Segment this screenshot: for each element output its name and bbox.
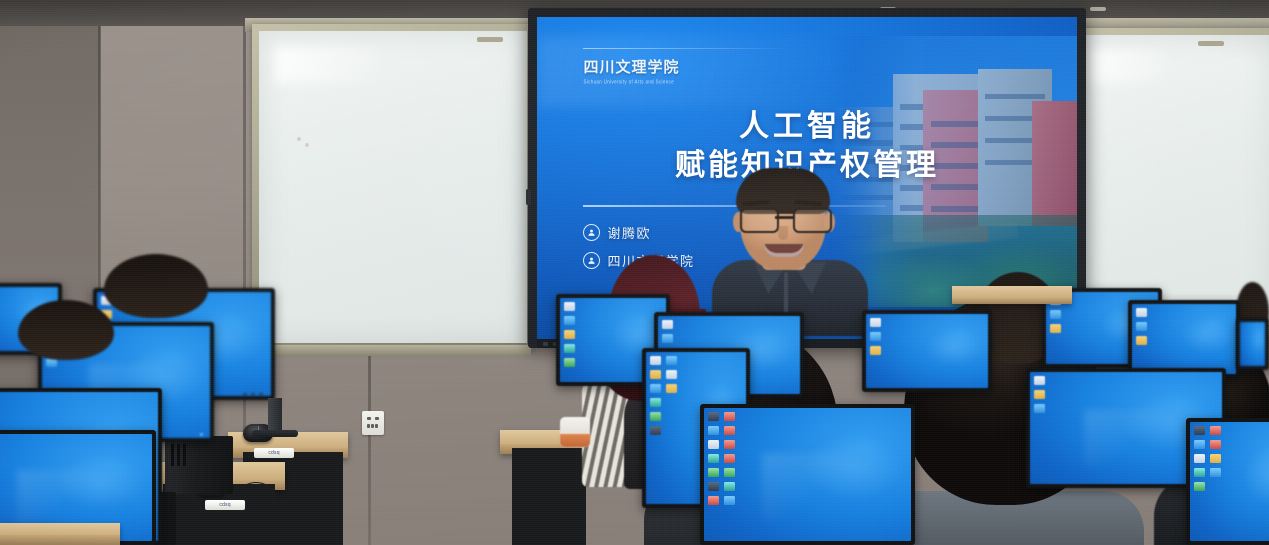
desktop-icon-app[interactable] xyxy=(708,482,719,491)
desktop-icon-app[interactable] xyxy=(724,440,735,449)
desktop-icon-column[interactable] xyxy=(662,320,673,343)
desktop-icon-column[interactable] xyxy=(870,318,881,355)
desktop-icon-app[interactable] xyxy=(708,412,719,421)
whiteboard-glare xyxy=(1089,50,1169,85)
classroom-photo-scene: 四川文理学院 Sichuan University of Arts and Sc… xyxy=(0,0,1269,545)
desktop-icon-app[interactable] xyxy=(662,334,673,343)
desktop-icon-column[interactable] xyxy=(708,412,719,505)
presenter-nose xyxy=(778,226,788,240)
desktop-icon-app[interactable] xyxy=(1210,440,1221,449)
whiteboard-glare xyxy=(275,47,382,84)
desktop-icon-folder[interactable] xyxy=(1050,324,1061,333)
desktop-icon-folder[interactable] xyxy=(1034,390,1045,399)
desktop-icon-column[interactable] xyxy=(650,356,661,435)
desktop-tower xyxy=(165,436,233,494)
desktop-icon-app[interactable] xyxy=(708,496,719,505)
desk-under-shadow xyxy=(512,448,586,545)
desk xyxy=(0,523,120,545)
desktop-icon-app[interactable] xyxy=(564,344,575,353)
desktop-icon-app[interactable] xyxy=(650,412,661,421)
desktop-icon-app[interactable] xyxy=(1194,440,1205,449)
desktop-icon-app[interactable] xyxy=(1210,468,1221,477)
desk xyxy=(952,286,1072,304)
desktop-icon-doc[interactable] xyxy=(650,356,661,365)
desktop-icon-column[interactable] xyxy=(1034,376,1045,413)
slide-top-rule xyxy=(583,48,788,49)
desktop-icon-column[interactable] xyxy=(666,356,677,393)
desktop-icon-app[interactable] xyxy=(708,426,719,435)
desktop-icon-doc[interactable] xyxy=(1194,454,1205,463)
desktop-icon-app[interactable] xyxy=(1136,322,1147,331)
desktop-icon-column[interactable] xyxy=(1194,426,1205,491)
desktop-icon-folder[interactable] xyxy=(870,346,881,355)
desktop-icon-app[interactable] xyxy=(1194,468,1205,477)
desktop-icon-folder[interactable] xyxy=(564,330,575,339)
desktop-icon-app[interactable] xyxy=(724,496,735,505)
monitor-stand xyxy=(268,398,282,434)
desktop-icon-app[interactable] xyxy=(1210,426,1221,435)
desktop-icon-app[interactable] xyxy=(666,356,677,365)
desktop-icon-app[interactable] xyxy=(870,332,881,341)
desktop-icon-column[interactable] xyxy=(724,412,735,505)
desktop-icon-doc[interactable] xyxy=(662,320,673,329)
desktop-icon-doc[interactable] xyxy=(870,318,881,327)
desktop-icon-app[interactable] xyxy=(1034,404,1045,413)
cup-sleeve xyxy=(560,434,590,447)
desktop-icon-folder[interactable] xyxy=(1210,454,1221,463)
university-logo-cn: 四川文理学院 xyxy=(583,56,691,77)
university-logo-en: Sichuan University of Arts and Science xyxy=(583,79,691,85)
desktop-icon-doc[interactable] xyxy=(708,440,719,449)
desk-label: cdsq xyxy=(254,448,294,458)
power-outlet xyxy=(362,411,384,435)
desktop-icon-app[interactable] xyxy=(650,398,661,407)
whiteboard-tray xyxy=(255,345,531,356)
desktop-icon-folder[interactable] xyxy=(666,384,677,393)
desktop-icon-column[interactable] xyxy=(1210,426,1221,477)
desktop-icon-column[interactable] xyxy=(1136,308,1147,345)
desktop-icon-doc[interactable] xyxy=(666,370,677,379)
monitor[interactable] xyxy=(1236,318,1269,370)
desktop-icon-app[interactable] xyxy=(724,426,735,435)
student xyxy=(18,300,114,362)
wall-seam xyxy=(368,330,371,545)
speaker-name: 谢腾欧 xyxy=(607,223,651,242)
desktop-icon-column[interactable] xyxy=(564,302,575,367)
byline-row-speaker: 谢腾欧 xyxy=(583,223,694,242)
desktop-icon-app[interactable] xyxy=(708,468,719,477)
desktop-icon-app[interactable] xyxy=(1194,426,1205,435)
desktop-icon-app[interactable] xyxy=(564,358,575,367)
desktop-icon-app[interactable] xyxy=(724,468,735,477)
desktop-icon-app[interactable] xyxy=(708,454,719,463)
university-logo: 四川文理学院 Sichuan University of Arts and Sc… xyxy=(583,56,691,84)
whiteboard-mark xyxy=(305,143,309,147)
monitor[interactable] xyxy=(862,310,992,392)
display-power-button[interactable] xyxy=(526,189,531,205)
monitor[interactable] xyxy=(1128,300,1240,378)
desktop-icon-doc[interactable] xyxy=(564,302,575,311)
desktop-icon-app[interactable] xyxy=(1050,310,1061,319)
presenter xyxy=(706,168,874,333)
slide-title-line-1: 人工智能 xyxy=(537,107,1077,146)
desktop-icon-app[interactable] xyxy=(650,426,661,435)
desktop-icon-folder[interactable] xyxy=(1136,336,1147,345)
monitor[interactable] xyxy=(700,404,915,545)
monitor-stand-base xyxy=(252,430,298,437)
whiteboard-clip xyxy=(1198,41,1224,46)
desktop-icon-app[interactable] xyxy=(650,384,661,393)
student xyxy=(104,254,208,320)
desktop-icon-app[interactable] xyxy=(724,454,735,463)
left-whiteboard xyxy=(252,24,534,350)
person-circle-icon xyxy=(583,224,600,241)
desktop-icon-doc[interactable] xyxy=(1034,376,1045,385)
whiteboard-mark xyxy=(297,137,301,141)
monitor[interactable] xyxy=(1186,418,1269,545)
ceiling-light xyxy=(1090,7,1106,11)
desktop-icon-app[interactable] xyxy=(564,316,575,325)
desktop-icon-folder[interactable] xyxy=(650,370,661,379)
desktop-icon-app[interactable] xyxy=(724,412,735,421)
whiteboard-clip xyxy=(477,37,503,42)
desktop-icon-app[interactable] xyxy=(724,482,735,491)
desktop-icon-app[interactable] xyxy=(1194,482,1205,491)
desktop-icon-doc[interactable] xyxy=(1136,308,1147,317)
